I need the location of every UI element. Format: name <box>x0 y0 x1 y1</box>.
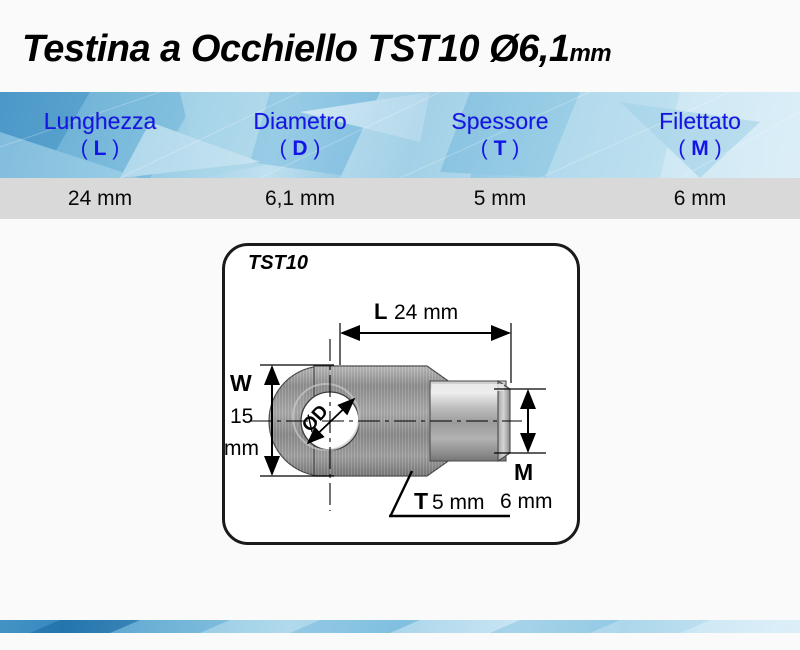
spec-header-name: Diametro <box>253 109 346 135</box>
spec-value-spessore: 5 mm <box>400 187 600 211</box>
page-title-main: Testina a Occhiello TST10 Ø6,1 <box>22 28 569 70</box>
spec-header-name: Filettato <box>659 109 741 135</box>
spec-header-name: Spessore <box>451 109 548 135</box>
spec-header-symbol: ( M ) <box>678 137 721 161</box>
footer-padding <box>0 633 800 650</box>
page-title: Testina a Occhiello TST10 Ø6,1mm <box>22 28 611 71</box>
title-bar: Testina a Occhiello TST10 Ø6,1mm <box>0 0 800 92</box>
spec-column-spessore: Spessore ( T ) <box>400 92 600 178</box>
footer-band-pattern <box>0 620 800 633</box>
footer-band <box>0 620 800 633</box>
spec-column-filettato: Filettato ( M ) <box>600 92 800 178</box>
dimension-width-value-1: 15 <box>230 405 253 428</box>
spec-header-symbol: ( D ) <box>280 137 321 161</box>
spec-value-row: 24 mm 6,1 mm 5 mm 6 mm <box>0 178 800 219</box>
dimension-thickness: T 5 mm <box>389 471 510 517</box>
spec-header-row: Lunghezza ( L ) Diametro ( D ) Spessore … <box>0 92 800 178</box>
dimension-width-value-2: mm <box>224 437 259 460</box>
page-title-unit: mm <box>569 40 611 67</box>
spec-value-lunghezza: 24 mm <box>0 187 200 211</box>
spec-value-filettato: 6 mm <box>600 187 800 211</box>
dimension-thread-value: 6 mm <box>500 490 553 513</box>
spec-value-diametro: 6,1 mm <box>200 187 400 211</box>
spec-header-name: Lunghezza <box>44 109 157 135</box>
spec-header-symbol: ( T ) <box>481 137 519 161</box>
spec-column-diametro: Diametro ( D ) <box>200 92 400 178</box>
spec-column-lunghezza: Lunghezza ( L ) <box>0 92 200 178</box>
dimension-thickness-value: 5 mm <box>432 491 485 514</box>
dimension-length-symbol: L <box>374 299 387 324</box>
dimension-width-symbol: W <box>230 370 252 396</box>
part-illustration <box>260 336 510 476</box>
technical-drawing: L 24 mm W 15 mm ØD M 6 mm T 5 mm <box>222 243 580 545</box>
dimension-thread-symbol: M <box>514 459 533 485</box>
dimension-thickness-symbol: T <box>414 488 428 514</box>
dimension-length-value: 24 mm <box>394 301 458 324</box>
spec-header-symbol: ( L ) <box>81 137 119 161</box>
